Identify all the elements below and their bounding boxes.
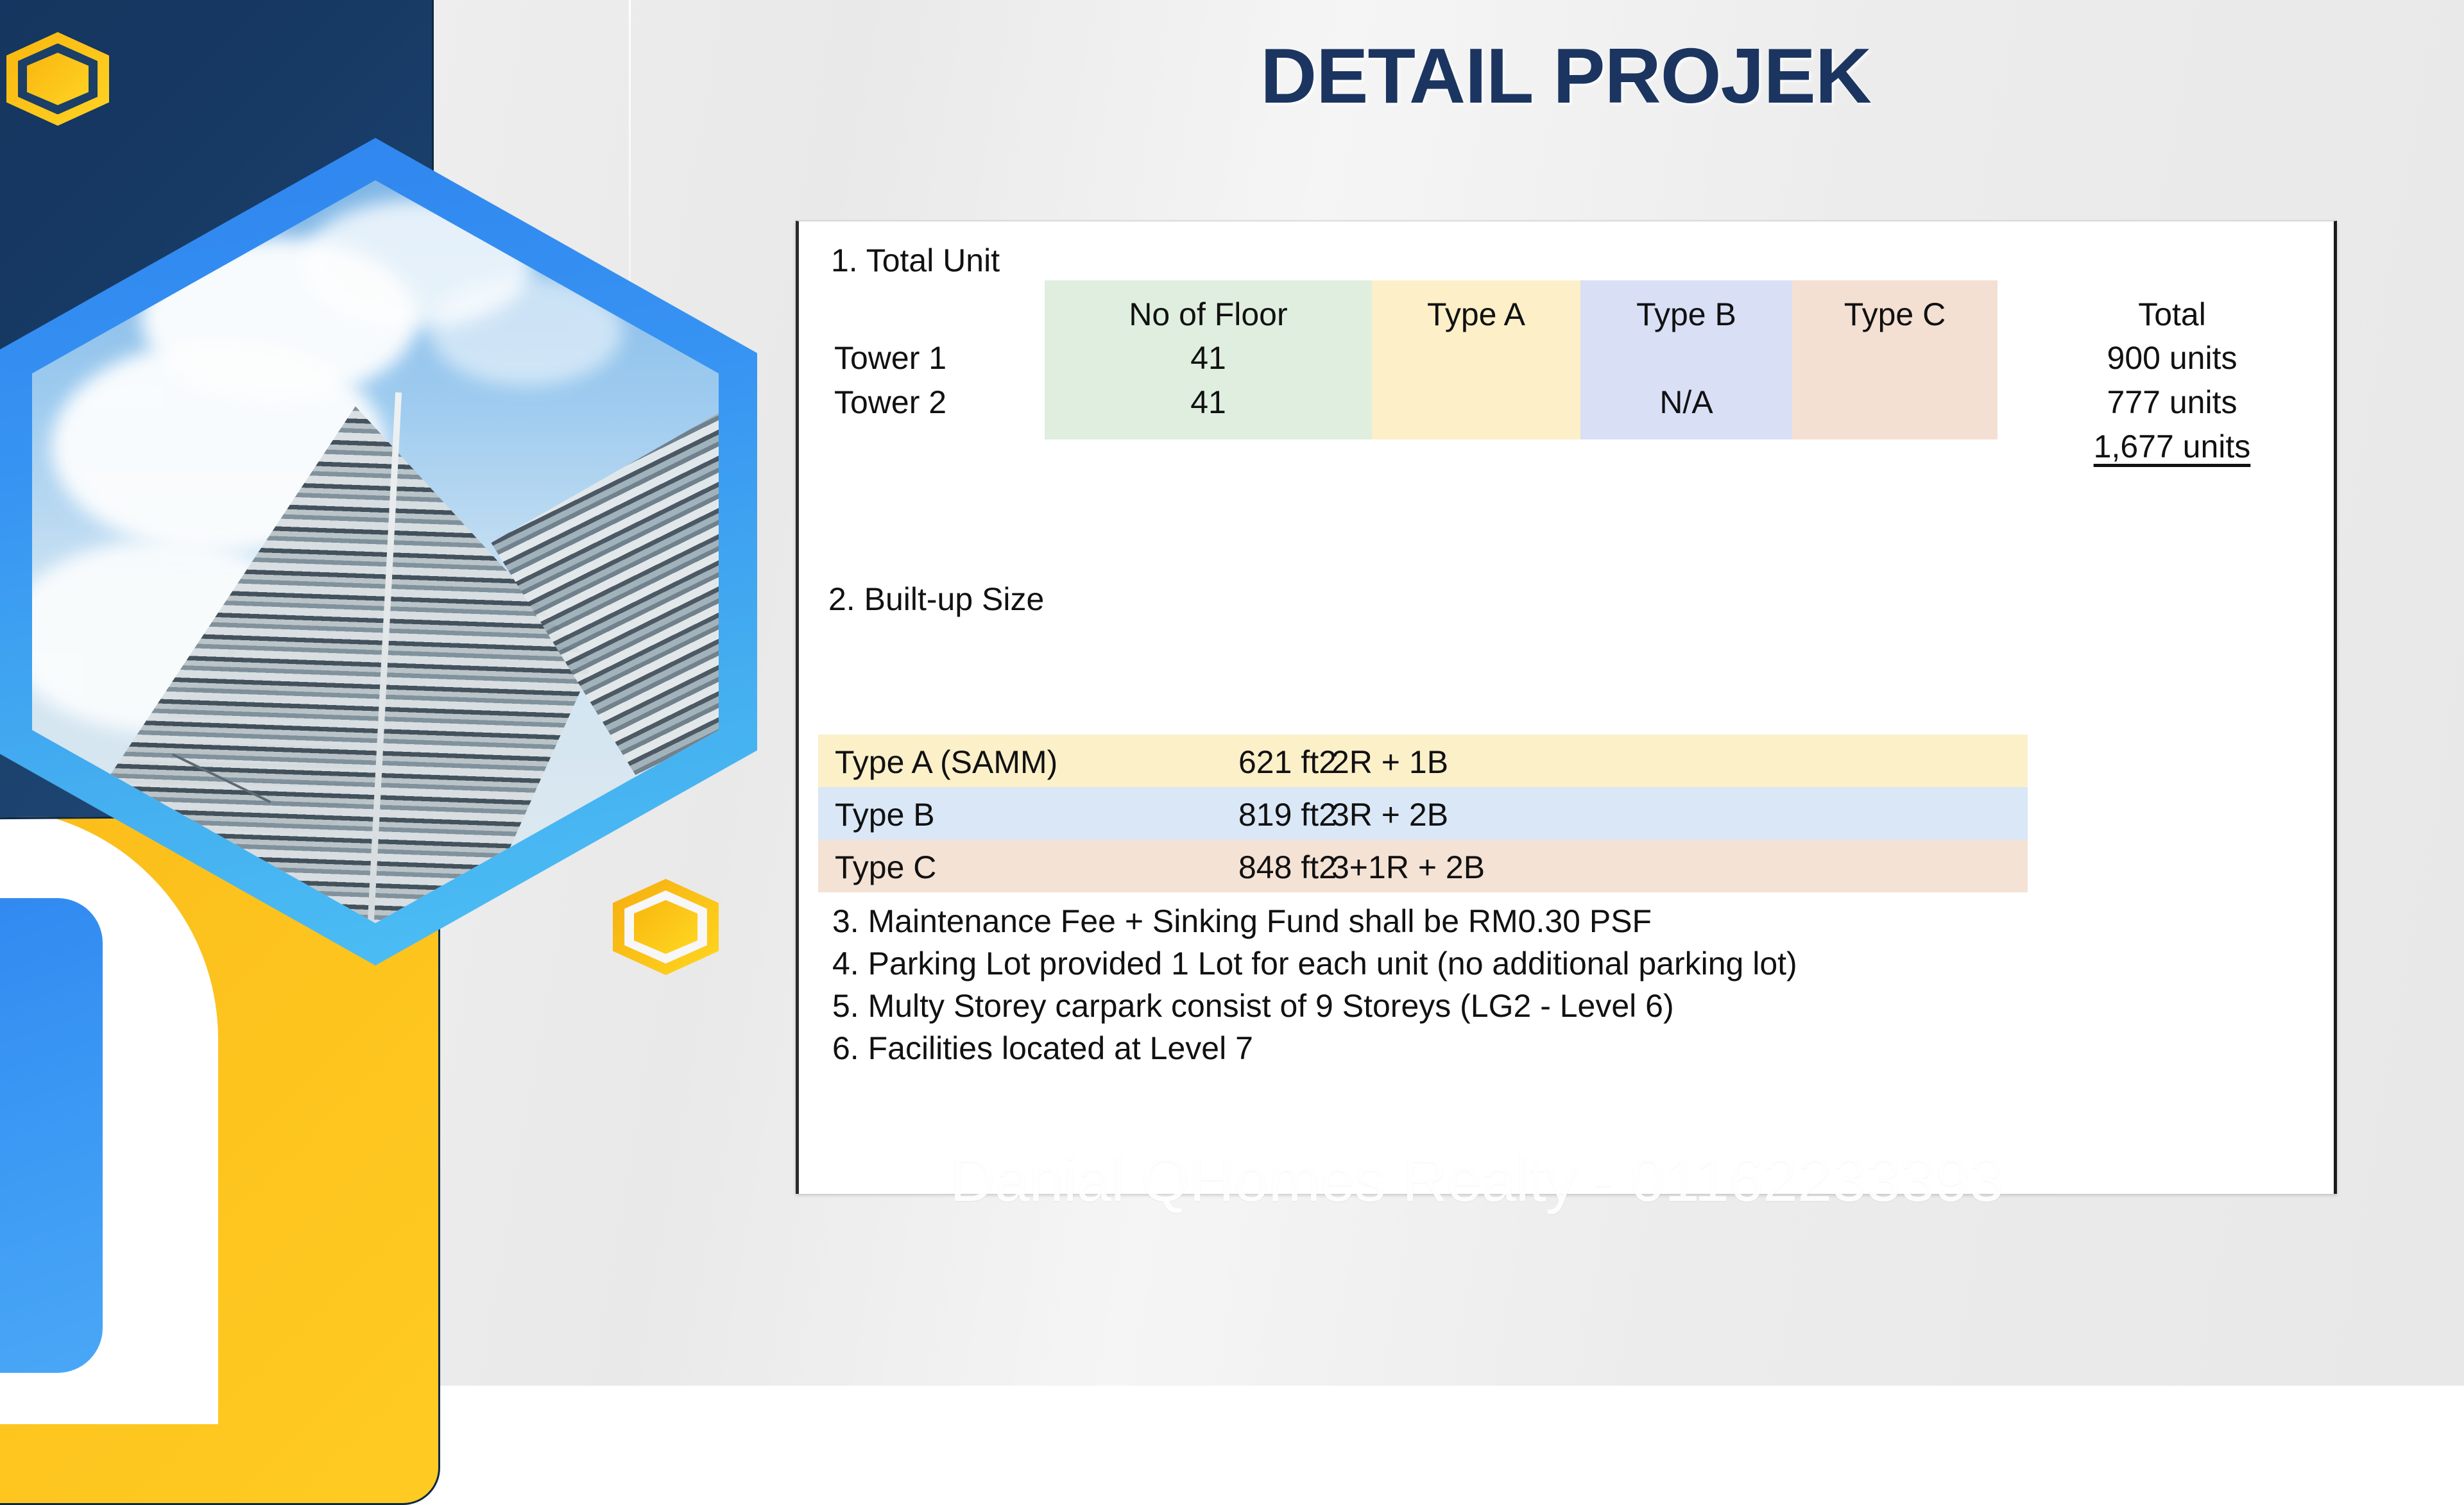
table-cell-tower-2-type-b: N/A bbox=[1580, 384, 1792, 421]
table-row: Type A (SAMM) 621 ft2 2R + 1B bbox=[818, 735, 2028, 787]
hexagon-photo-frame bbox=[0, 138, 757, 965]
slide-background: DETAIL PROJEK 1. Total Unit No of Floor … bbox=[0, 0, 2464, 1386]
table-cell-grand-total: 1,677 units bbox=[2037, 428, 2307, 465]
section-label-built-up-size: 2. Built-up Size bbox=[828, 581, 1044, 618]
table-cell-tower-2-floors: 41 bbox=[1045, 384, 1372, 421]
column-header-no-of-floor: No of Floor bbox=[1045, 296, 1372, 333]
built-up-type-name: Type C bbox=[835, 849, 936, 886]
blue-tab-shape bbox=[0, 898, 103, 1373]
list-item: 4. Parking Lot provided 1 Lot for each u… bbox=[832, 942, 2302, 985]
built-up-room-config: 2R + 1B bbox=[1331, 744, 1448, 781]
built-up-type-name: Type A (SAMM) bbox=[835, 744, 1057, 781]
content-card: 1. Total Unit No of Floor Type A Type B … bbox=[796, 221, 2337, 1194]
built-up-size-value: 621 ft2 bbox=[1238, 744, 1337, 781]
list-item: 5. Multy Storey carpark consist of 9 Sto… bbox=[832, 985, 2302, 1027]
table-cell-tower-1-total: 900 units bbox=[2037, 339, 2307, 377]
table-row: Type B 819 ft2 3R + 2B bbox=[818, 787, 2028, 840]
table-row-tower-1-label: Tower 1 bbox=[834, 339, 1027, 377]
table-cell-tower-1-floors: 41 bbox=[1045, 339, 1372, 377]
table-row-tower-2-label: Tower 2 bbox=[834, 384, 1027, 421]
built-up-type-name: Type B bbox=[835, 796, 935, 833]
column-header-type-a: Type A bbox=[1372, 296, 1580, 333]
hexagon-logo-icon bbox=[6, 32, 109, 126]
hexagon-logo-icon-secondary bbox=[613, 879, 719, 975]
page-title: DETAIL PROJEK bbox=[796, 31, 2336, 121]
column-header-type-c: Type C bbox=[1792, 296, 1998, 333]
column-header-total: Total bbox=[2037, 296, 2307, 333]
table-cell-tower-2-total: 777 units bbox=[2037, 384, 2307, 421]
table-row: Type C 848 ft2 3+1R + 2B bbox=[818, 840, 2028, 892]
section-label-total-unit: 1. Total Unit bbox=[831, 242, 1000, 279]
built-up-size-value: 848 ft2 bbox=[1238, 849, 1337, 886]
built-up-room-config: 3+1R + 2B bbox=[1331, 849, 1485, 886]
built-up-size-value: 819 ft2 bbox=[1238, 796, 1337, 833]
built-up-room-config: 3R + 2B bbox=[1331, 796, 1448, 833]
list-item: 6. Facilities located at Level 7 bbox=[832, 1027, 2302, 1069]
list-item: 3. Maintenance Fee + Sinking Fund shall … bbox=[832, 900, 2302, 942]
total-unit-table: No of Floor Type A Type B Type C Total T… bbox=[799, 280, 2334, 460]
column-header-type-b: Type B bbox=[1580, 296, 1792, 333]
notes-list: 3. Maintenance Fee + Sinking Fund shall … bbox=[832, 900, 2302, 1069]
